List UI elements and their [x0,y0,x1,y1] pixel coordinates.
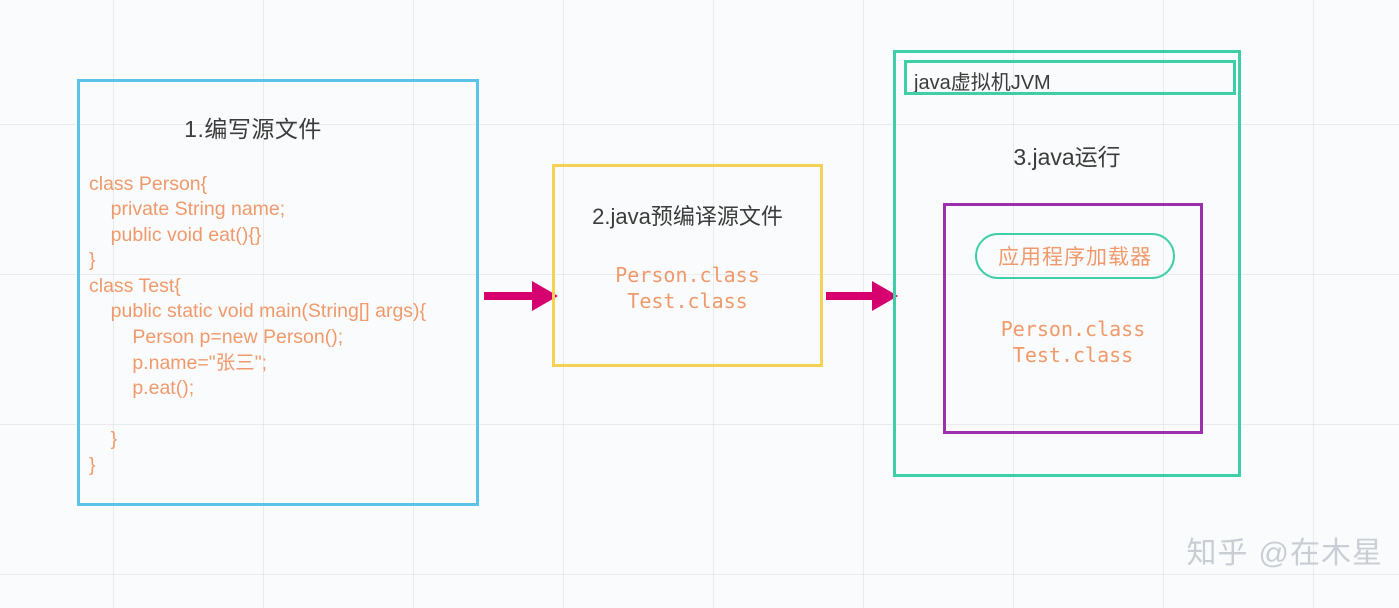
jvm-label-bar: java虚拟机JVM [904,60,1236,95]
jvm-label-text: java虚拟机JVM [914,66,1051,95]
watermark: 知乎@在木星 [1187,528,1383,572]
loaded-class-files: Person.class Test.class [946,316,1200,368]
compiled-class-files: Person.class Test.class [555,262,820,314]
watermark-handle: @在木星 [1259,537,1383,570]
diagram-canvas: 1.编写源文件 class Person{ private String nam… [0,0,1399,608]
source-code-block: class Person{ private String name; publi… [89,172,470,479]
source-file-title: 1.编写源文件 [80,110,476,144]
jvm-box: java虚拟机JVM 3.java运行 应用程序加载器 Person.class… [893,50,1241,477]
compiled-class-title: 2.java预编译源文件 [555,199,820,231]
application-class-loader-pill: 应用程序加载器 [975,233,1175,279]
compiled-class-box: 2.java预编译源文件 Person.class Test.class [552,164,823,367]
jvm-run-title: 3.java运行 [896,138,1238,172]
zhihu-logo-text: 知乎 [1187,537,1249,570]
source-file-box: 1.编写源文件 class Person{ private String nam… [77,79,479,506]
class-loader-box: 应用程序加载器 Person.class Test.class [943,203,1203,434]
application-class-loader-label: 应用程序加载器 [998,241,1152,271]
